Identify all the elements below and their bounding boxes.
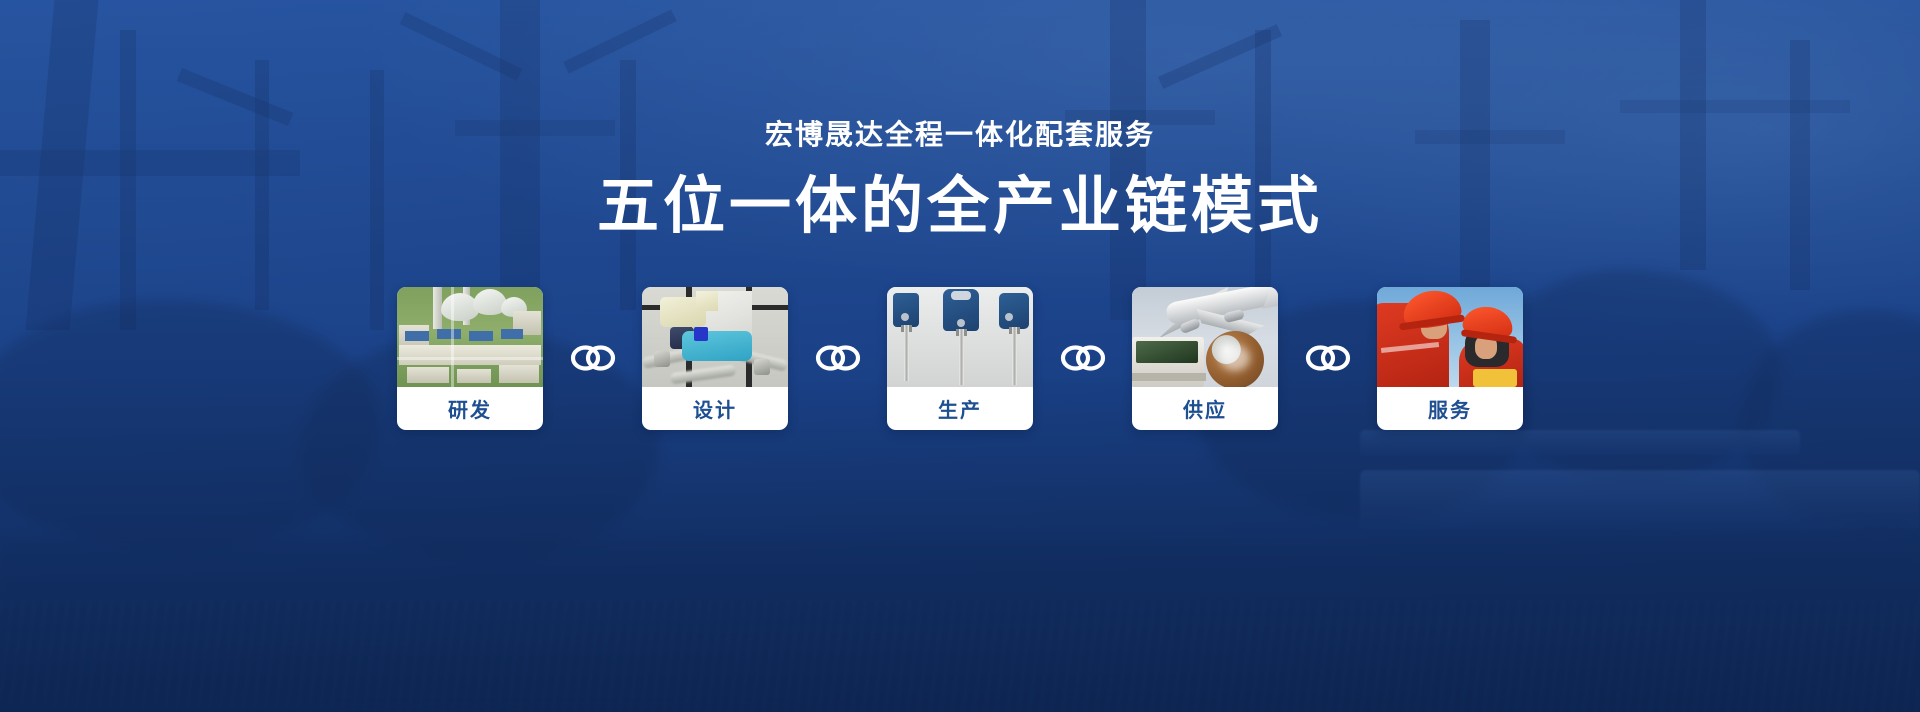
chain-card-supply[interactable]: 供应 xyxy=(1132,287,1278,430)
chain-link-icon xyxy=(570,343,616,373)
industrial-plant-aerial-photo xyxy=(397,287,543,387)
chain-link-connector-3 xyxy=(1033,343,1132,373)
chain-card-production[interactable]: 生产 xyxy=(887,287,1033,430)
chain-card-label: 设计 xyxy=(642,387,788,430)
cad-pump-piping-render xyxy=(642,287,788,387)
chain-card-service[interactable]: 服务 xyxy=(1377,287,1523,430)
chain-link-connector-1 xyxy=(543,343,642,373)
field-workers-red-ppe-hardhats xyxy=(1377,287,1523,387)
chain-card-design[interactable]: 设计 xyxy=(642,287,788,430)
banner-subtitle: 宏博晟达全程一体化配套服务 xyxy=(765,118,1155,152)
value-chain-row: 研发 xyxy=(397,287,1523,430)
chain-link-icon xyxy=(1305,343,1351,373)
chain-link-icon xyxy=(1060,343,1106,373)
chain-link-connector-4 xyxy=(1278,343,1377,373)
chain-link-icon xyxy=(815,343,861,373)
hero-banner: 宏博晟达全程一体化配套服务 五位一体的全产业链模式 研发 xyxy=(0,0,1920,712)
banner-headline: 五位一体的全产业链模式 xyxy=(597,174,1323,241)
chain-card-label: 服务 xyxy=(1377,387,1523,430)
banner-content: 宏博晟达全程一体化配套服务 五位一体的全产业链模式 研发 xyxy=(0,0,1920,712)
chain-card-label: 研发 xyxy=(397,387,543,430)
chain-card-label: 供应 xyxy=(1132,387,1278,430)
airplane-truck-globe-logistics xyxy=(1132,287,1278,387)
chain-card-rd[interactable]: 研发 xyxy=(397,287,543,430)
chain-link-connector-2 xyxy=(788,343,887,373)
chain-card-label: 生产 xyxy=(887,387,1033,430)
blue-level-transmitter-instruments xyxy=(887,287,1033,387)
